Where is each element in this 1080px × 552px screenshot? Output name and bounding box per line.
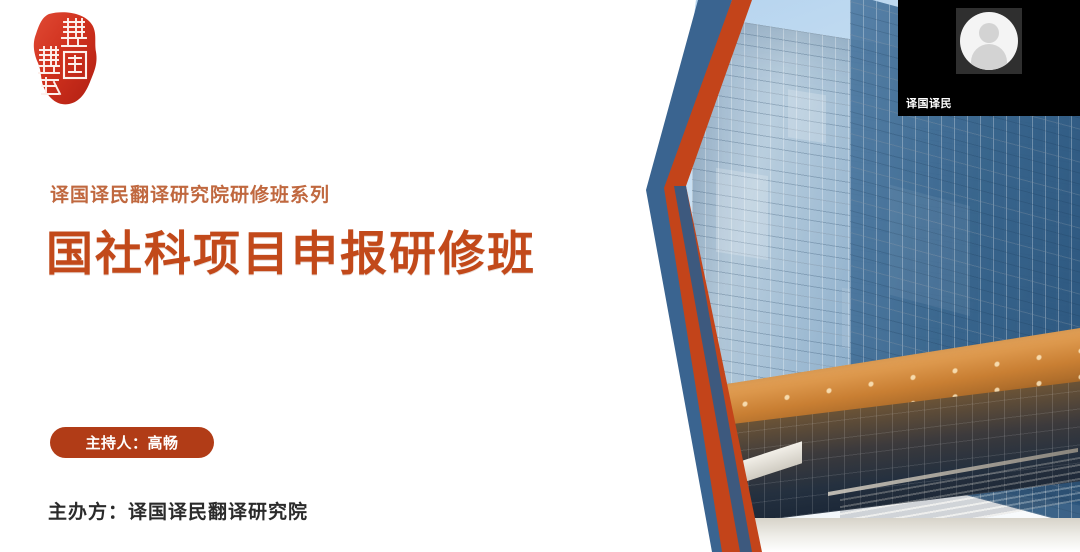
facade-reflection [890, 185, 970, 316]
page-title: 国社科项目申报研修班 [46, 228, 536, 283]
participant-name-label: 译国译民 [906, 95, 952, 111]
presentation-slide: 译国译民翻译研究院研修班系列 国社科项目申报研修班 主持人：高畅 主办方：译国译… [0, 0, 1080, 552]
company-seal-logo [24, 8, 108, 108]
avatar-body [971, 44, 1007, 70]
avatar [956, 8, 1022, 74]
organizer-line: 主办方：译国译民翻译研究院 [48, 497, 308, 524]
host-badge: 主持人：高畅 [50, 427, 214, 458]
avatar-head [979, 23, 999, 43]
video-participant-tile[interactable]: 译国译民 [898, 0, 1080, 116]
decorative-chevron-ribbons [640, 0, 840, 552]
series-subtitle: 译国译民翻译研究院研修班系列 [50, 180, 330, 207]
default-person-avatar-icon [960, 12, 1018, 70]
